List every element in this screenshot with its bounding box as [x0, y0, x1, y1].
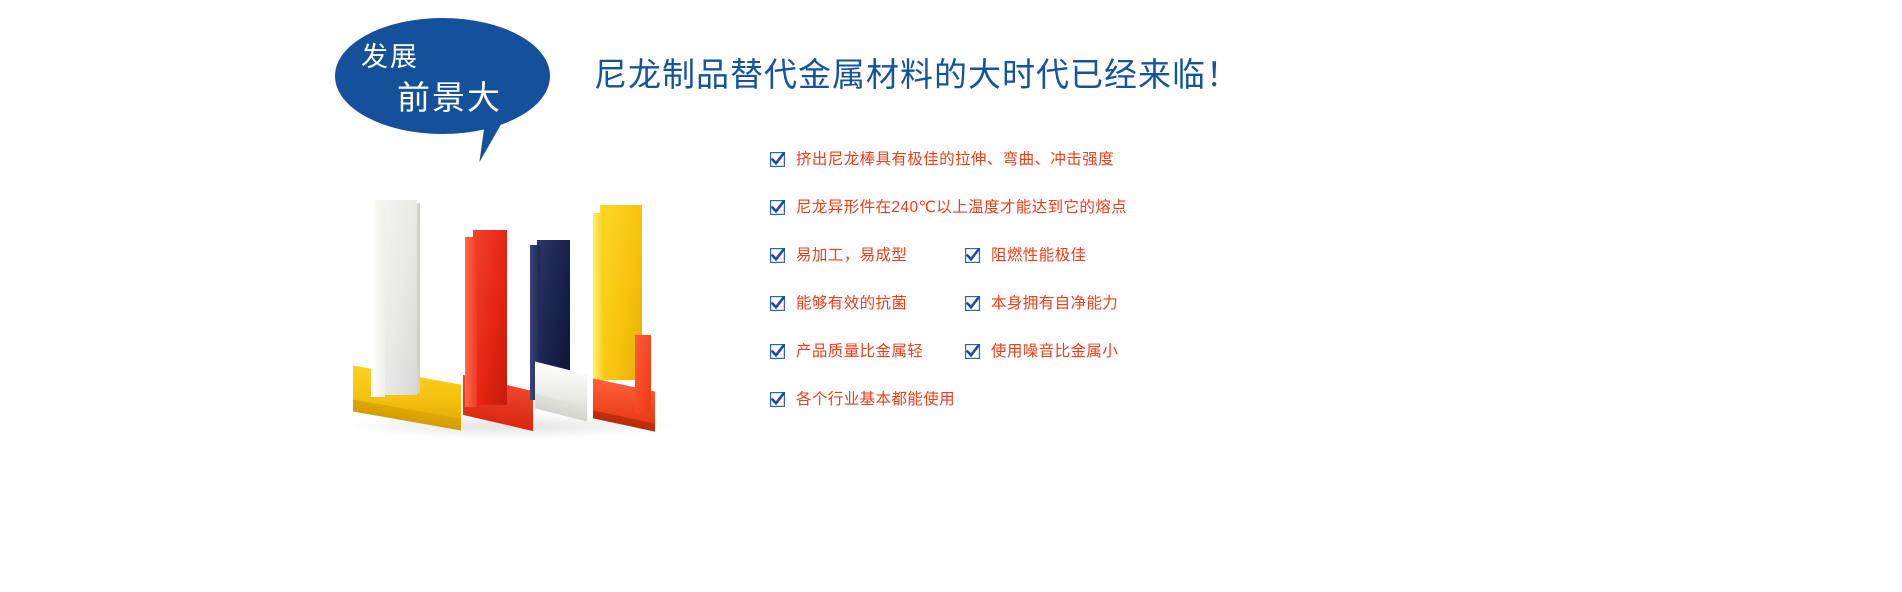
- feature-row: 各个行业基本都能使用: [770, 392, 1470, 440]
- speech-bubble-line-1: 发展: [361, 44, 419, 71]
- page-title: 尼龙制品替代金属材料的大时代已经来临！: [594, 54, 1240, 95]
- checkbox-checked-icon: [770, 344, 785, 359]
- feature-item: 各个行业基本都能使用: [770, 392, 1370, 408]
- product-photo: [345, 185, 705, 460]
- feature-item-label: 各个行业基本都能使用: [796, 392, 955, 408]
- yellow-profile-edge: [593, 213, 604, 385]
- checkbox-checked-icon: [770, 200, 785, 215]
- feature-item-label: 本身拥有自净能力: [991, 296, 1118, 312]
- feature-item-label: 产品质量比金属轻: [796, 344, 923, 360]
- orange-angle-wall: [635, 335, 651, 413]
- feature-item-label: 易加工，易成型: [796, 248, 907, 264]
- feature-row: 产品质量比金属轻使用噪音比金属小: [770, 344, 1470, 392]
- feature-item-label: 使用噪音比金属小: [991, 344, 1118, 360]
- checkbox-checked-icon: [965, 248, 980, 263]
- feature-item: 使用噪音比金属小: [965, 344, 1225, 360]
- checkbox-checked-icon: [965, 344, 980, 359]
- checkbox-checked-icon: [770, 248, 785, 263]
- feature-item: 尼龙异形件在240℃以上温度才能达到它的熔点: [770, 200, 1370, 216]
- feature-list: 挤出尼龙棒具有极佳的拉伸、弯曲、冲击强度尼龙异形件在240℃以上温度才能达到它的…: [770, 152, 1470, 440]
- speech-bubble: 发展 前景大: [335, 18, 550, 158]
- feature-item: 产品质量比金属轻: [770, 344, 965, 360]
- feature-item: 易加工，易成型: [770, 248, 965, 264]
- feature-item: 阻燃性能极佳: [965, 248, 1225, 264]
- feature-item-label: 阻燃性能极佳: [991, 248, 1086, 264]
- speech-bubble-body: [335, 18, 550, 134]
- checkbox-checked-icon: [770, 152, 785, 167]
- speech-bubble-line-2: 前景大: [397, 81, 502, 114]
- red-profile-body: [473, 230, 507, 405]
- feature-row: 能够有效的抗菌本身拥有自净能力: [770, 296, 1470, 344]
- feature-item: 能够有效的抗菌: [770, 296, 965, 312]
- feature-item-label: 能够有效的抗菌: [796, 296, 907, 312]
- checkbox-checked-icon: [770, 392, 785, 407]
- feature-item: 本身拥有自净能力: [965, 296, 1225, 312]
- white-profile-edge: [371, 207, 385, 397]
- checkbox-checked-icon: [965, 296, 980, 311]
- feature-row: 易加工，易成型阻燃性能极佳: [770, 248, 1470, 296]
- feature-item-label: 尼龙异形件在240℃以上温度才能达到它的熔点: [796, 200, 1127, 216]
- promo-banner: 发展 前景大 尼龙制品替代金属材料的大时代已经来临！ 挤出尼龙棒具有极佳的拉伸、…: [0, 0, 1902, 592]
- feature-item-label: 挤出尼龙棒具有极佳的拉伸、弯曲、冲击强度: [796, 152, 1114, 168]
- red-profile-edge: [465, 237, 477, 407]
- feature-item: 挤出尼龙棒具有极佳的拉伸、弯曲、冲击强度: [770, 152, 1370, 168]
- checkbox-checked-icon: [770, 296, 785, 311]
- feature-row: 尼龙异形件在240℃以上温度才能达到它的熔点: [770, 200, 1470, 248]
- feature-row: 挤出尼龙棒具有极佳的拉伸、弯曲、冲击强度: [770, 152, 1470, 200]
